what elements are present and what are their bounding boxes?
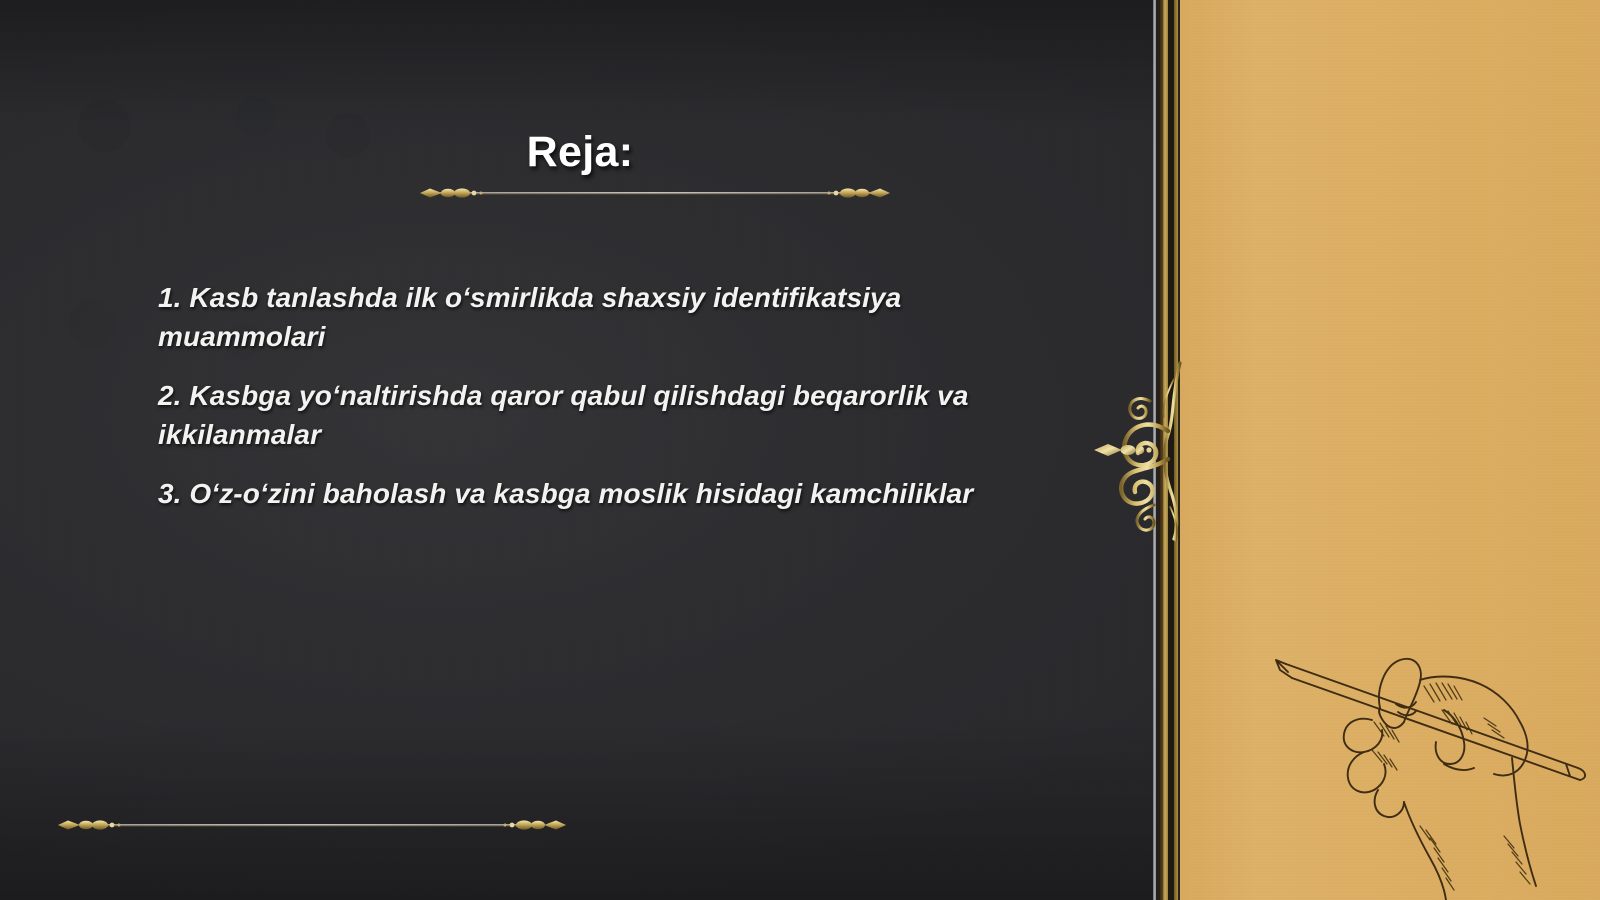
gold-panel-texture <box>1180 0 1600 900</box>
list-item: 2. Kasbga yoʻnaltirishda qaror qabul qil… <box>158 376 1058 454</box>
border-line-dark-3 <box>1178 0 1180 900</box>
gold-side-panel <box>1180 0 1600 900</box>
list-item: 3. Oʻz-oʻzini baholash va kasbga moslik … <box>158 474 1058 513</box>
presentation-slide: Reja: <box>0 0 1600 900</box>
agenda-list: 1. Kasb tanlashda ilk oʻsmirlikda shaxsi… <box>158 278 1058 513</box>
list-item: 1. Kasb tanlashda ilk oʻsmirlikda shaxsi… <box>158 278 1058 356</box>
slide-title: Reja: <box>0 128 1160 177</box>
